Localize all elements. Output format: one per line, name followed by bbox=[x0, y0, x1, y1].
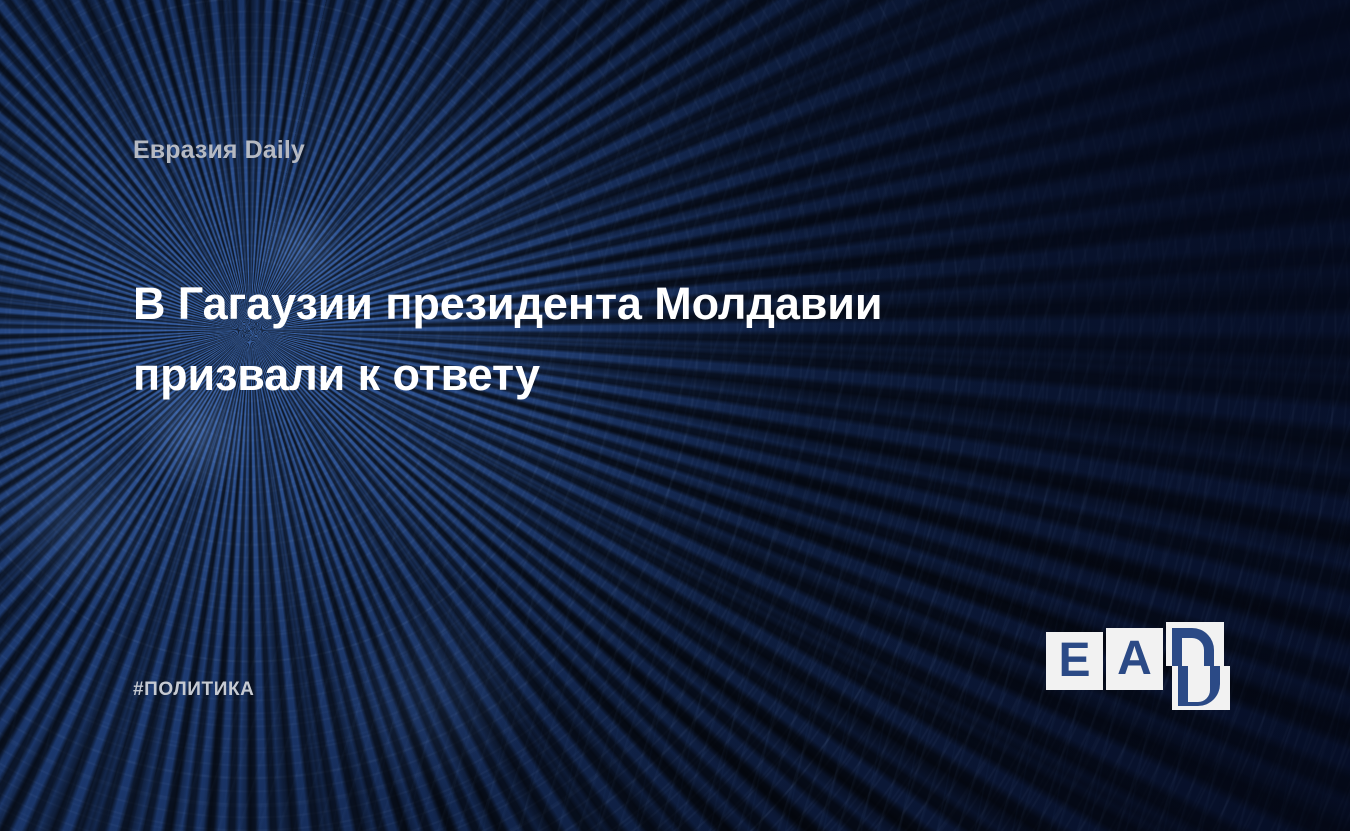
logo-letter-d-icon bbox=[1156, 622, 1246, 712]
brand-wordmark[interactable]: Евразия Daily bbox=[133, 136, 305, 165]
article-headline: В Гагаузии президента Молдавии призвали … bbox=[133, 268, 1073, 410]
category-tag[interactable]: #ПОЛИТИКА bbox=[133, 679, 255, 701]
logo-letter-e: E bbox=[1046, 632, 1103, 690]
card-content: Евразия Daily В Гагаузии президента Молд… bbox=[0, 0, 1350, 831]
logo-letter-a: A bbox=[1106, 628, 1163, 690]
article-share-card: Евразия Daily В Гагаузии президента Молд… bbox=[0, 0, 1350, 831]
ead-logo-mark[interactable]: E A bbox=[1045, 605, 1235, 713]
